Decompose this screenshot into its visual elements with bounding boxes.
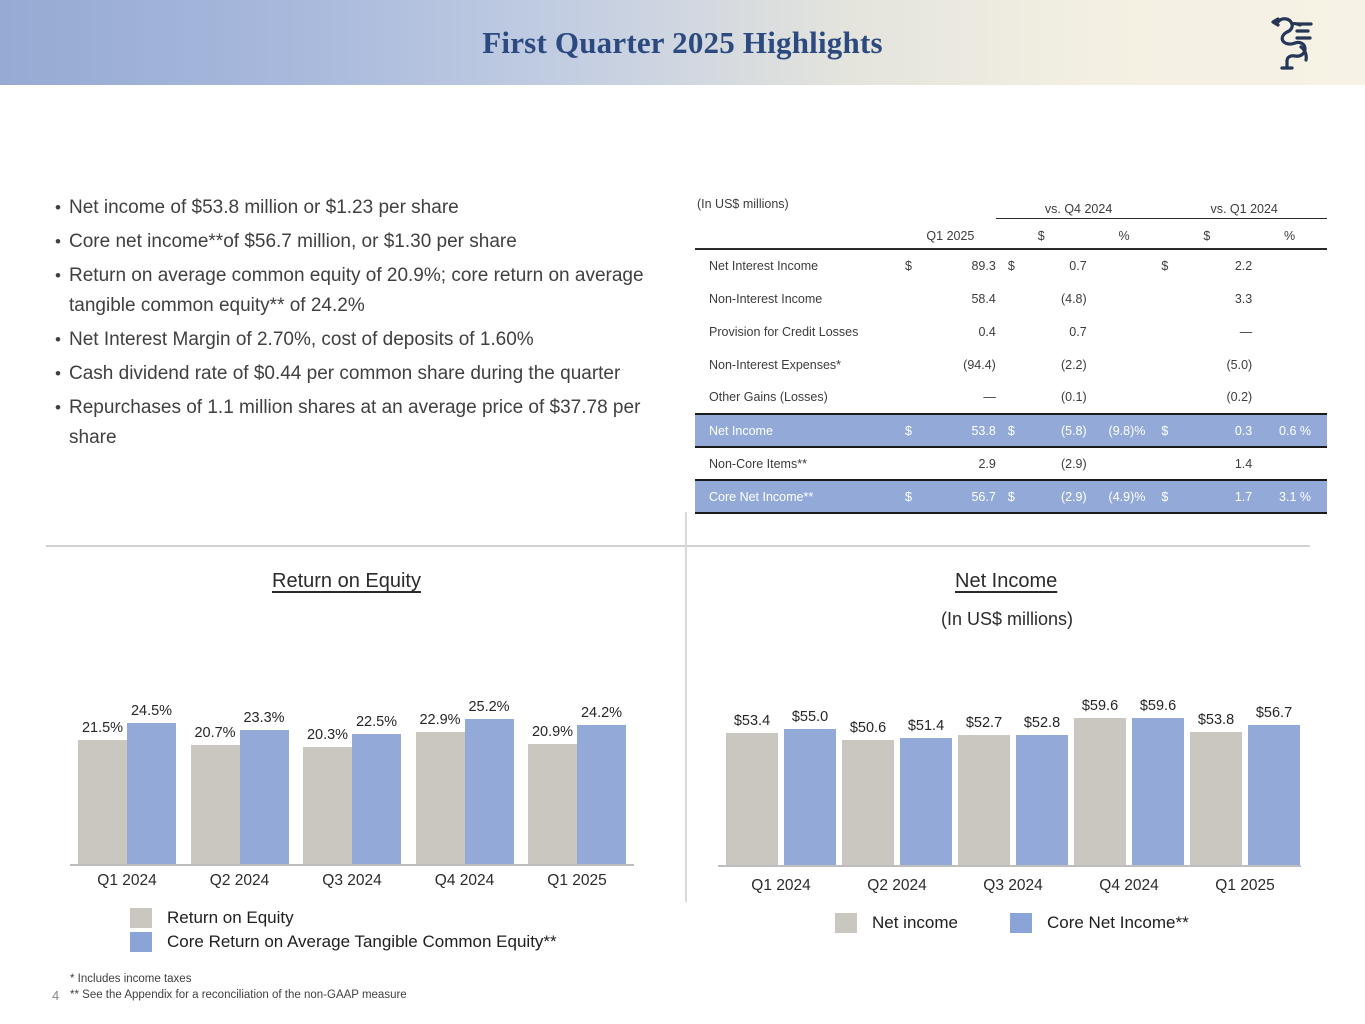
column-group-vs-q1: vs. Q1 2024 [1161,192,1327,218]
cell-vs-q4-currency [996,282,1030,315]
cell-vs-q4-value: (2.9) [1030,480,1087,513]
row-label: Non-Core Items** [695,447,905,480]
cell-vs-q1-value: 0.3 [1196,414,1253,447]
bar: 24.2% [577,725,626,864]
cell-q1-currency [905,282,939,315]
cell-vs-q1-currency [1161,447,1195,480]
legend-item: Return on Equity [130,908,557,928]
cell-vs-q4-percent [1087,348,1162,381]
cell-vs-q1-currency [1161,381,1195,414]
cell-vs-q4-value: (2.9) [1030,447,1087,480]
table-span-header-row: vs. Q4 2024 vs. Q1 2024 [695,192,1327,218]
col-header-q1-2025: Q1 2025 [905,218,996,248]
cell-vs-q4-percent: (4.9)% [1087,480,1162,513]
bar-value-label: $53.4 [734,713,770,729]
table-row: Non-Interest Expenses* (94.4) (2.2) (5.0… [695,348,1327,381]
cell-q1-currency: $ [905,480,939,513]
cell-vs-q1-percent [1252,381,1327,414]
cell-vs-q1-percent [1252,249,1327,282]
cell-q1-value: 0.4 [939,315,996,348]
slide: First Quarter 2025 Highlights • Net inco… [0,0,1365,1024]
footnote-double-asterisk: ** See the Appendix for a reconciliation… [70,987,407,1003]
horizontal-divider [46,545,1310,547]
bar: 25.2% [465,719,514,864]
cell-vs-q4-currency: $ [996,414,1030,447]
col-header-q1-dollar: $ [1161,218,1252,248]
table-row: Net Interest Income $ 89.3 $ 0.7 $ 2.2 [695,249,1327,282]
cell-vs-q4-value: (4.8) [1030,282,1087,315]
row-label: Non-Interest Income [695,282,905,315]
liver-bird-logo [1264,12,1320,72]
bar-group: 21.5%24.5% [78,723,176,864]
cell-vs-q1-percent [1252,348,1327,381]
bar-value-label: $55.0 [792,709,828,725]
bar: $53.8 [1190,732,1242,865]
cell-vs-q4-currency: $ [996,249,1030,282]
x-axis-tick-label: Q1 2024 [718,877,844,895]
legend-item: Core Net Income** [1010,913,1189,933]
legend-label: Return on Equity [167,908,294,928]
chart-net-income: $53.4$55.0Q1 2024$50.6$51.4Q2 2024$52.7$… [718,640,1308,895]
table-row: Non-Interest Income 58.4 (4.8) 3.3 [695,282,1327,315]
list-item: • Net income of $53.8 million or $1.23 p… [47,193,662,223]
row-label: Other Gains (Losses) [695,381,905,414]
bar: 20.3% [303,747,352,864]
bar-value-label: $56.7 [1256,705,1292,721]
bar-value-label: $53.8 [1198,712,1234,728]
bar-value-label: 22.9% [419,712,460,728]
cell-q1-value: 2.9 [939,447,996,480]
legend-swatch-blue-icon [130,932,152,952]
legend-swatch-gray-icon [130,908,152,928]
bullet-marker-icon: • [47,393,69,423]
cell-vs-q1-value: 2.2 [1196,249,1253,282]
cell-vs-q1-currency: $ [1161,414,1195,447]
cell-q1-value: 89.3 [939,249,996,282]
bar-value-label: 25.2% [468,699,509,715]
cell-vs-q1-currency: $ [1161,480,1195,513]
cell-vs-q4-currency: $ [996,480,1030,513]
legend-label: Core Net Income** [1047,913,1189,933]
cell-vs-q1-currency [1161,282,1195,315]
cell-q1-value: 58.4 [939,282,996,315]
cell-q1-currency [905,381,939,414]
cell-q1-value: (94.4) [939,348,996,381]
chart-x-axis [718,865,1301,867]
bar: $50.6 [842,740,894,865]
row-label: Non-Interest Expenses* [695,348,905,381]
cell-vs-q4-currency [996,381,1030,414]
cell-vs-q1-value: (5.0) [1196,348,1253,381]
row-label: Net Interest Income [695,249,905,282]
cell-vs-q4-currency [996,315,1030,348]
cell-q1-currency [905,348,939,381]
cell-q1-value: 56.7 [939,480,996,513]
bar-value-label: 24.2% [581,705,622,721]
column-group-vs-q4: vs. Q4 2024 [996,192,1162,218]
legend-label: Core Return on Average Tangible Common E… [167,932,557,952]
list-item-text: Net Interest Margin of 2.70%, cost of de… [69,325,662,355]
cell-vs-q1-percent: 0.6 % [1252,414,1327,447]
bar-value-label: 22.5% [356,714,397,730]
list-item-text: Repurchases of 1.1 million shares at an … [69,393,662,453]
bar-value-label: 20.9% [532,724,573,740]
x-axis-tick-label: Q4 2024 [1066,877,1192,895]
legend-return-on-equity: Return on Equity Core Return on Average … [130,908,557,956]
list-item: • Cash dividend rate of $0.44 per common… [47,359,662,389]
bar-group: $50.6$51.4 [842,738,952,865]
bar: 20.9% [528,744,577,864]
bar-group: 20.7%23.3% [191,730,289,864]
col-header-q4-dollar: $ [996,218,1087,248]
footnotes: * Includes income taxes ** See the Appen… [70,971,407,1003]
bar-value-label: $51.4 [908,718,944,734]
table-row: Other Gains (Losses) — (0.1) (0.2) [695,381,1327,414]
bar-group: $53.8$56.7 [1190,725,1300,865]
x-axis-tick-label: Q1 2024 [70,872,184,890]
cell-vs-q1-value: (0.2) [1196,381,1253,414]
financial-summary-table: vs. Q4 2024 vs. Q1 2024 Q1 2025 $ % $ % … [695,192,1327,514]
chart-x-axis [70,864,634,866]
cell-vs-q4-percent [1087,282,1162,315]
cell-vs-q4-percent [1087,381,1162,414]
cell-vs-q4-percent [1087,249,1162,282]
bar: 22.9% [416,732,465,864]
vertical-divider [685,512,687,902]
bar-value-label: 20.3% [307,727,348,743]
chart-subtitle-net-income: (In US$ millions) [941,609,1073,630]
row-label: Provision for Credit Losses [695,315,905,348]
cell-vs-q4-value: 0.7 [1030,249,1087,282]
list-item: • Net Interest Margin of 2.70%, cost of … [47,325,662,355]
table-row: Provision for Credit Losses 0.4 0.7 — [695,315,1327,348]
col-header-q1-percent: % [1252,218,1327,248]
table-row: Non-Core Items** 2.9 (2.9) 1.4 [695,447,1327,480]
bar-group: $53.4$55.0 [726,729,836,865]
legend-net-income: Net income Core Net Income** [835,913,1189,933]
bullet-marker-icon: • [47,227,69,257]
list-item: • Repurchases of 1.1 million shares at a… [47,393,662,453]
cell-vs-q4-value: (5.8) [1030,414,1087,447]
bar-group: 20.3%22.5% [303,734,401,864]
row-label: Core Net Income** [695,480,905,513]
bar: 24.5% [127,723,176,864]
bar: $51.4 [900,738,952,865]
cell-vs-q1-percent [1252,315,1327,348]
cell-q1-value: 53.8 [939,414,996,447]
cell-vs-q4-percent: (9.8)% [1087,414,1162,447]
x-axis-tick-label: Q3 2024 [950,877,1076,895]
bullet-marker-icon: • [47,359,69,389]
row-label: Net Income [695,414,905,447]
legend-swatch-gray-icon [835,913,857,933]
cell-vs-q1-currency [1161,315,1195,348]
bullet-marker-icon: • [47,261,69,291]
list-item-text: Core net income**of $56.7 million, or $1… [69,227,662,257]
bar-value-label: $52.8 [1024,715,1060,731]
bar-value-label: $50.6 [850,720,886,736]
bar: $59.6 [1132,718,1184,865]
chart-title-return-on-equity: Return on Equity [272,570,421,593]
x-axis-tick-label: Q2 2024 [183,872,297,890]
bar-group: 22.9%25.2% [416,719,514,864]
chart-return-on-equity: 21.5%24.5%Q1 202420.7%23.3%Q2 202420.3%2… [70,640,640,890]
cell-vs-q1-value: 3.3 [1196,282,1253,315]
cell-vs-q1-value: 1.7 [1196,480,1253,513]
col-header-q4-percent: % [1087,218,1162,248]
x-axis-tick-label: Q1 2025 [520,872,634,890]
x-axis-tick-label: Q2 2024 [834,877,960,895]
list-item-text: Cash dividend rate of $0.44 per common s… [69,359,662,389]
bar: 22.5% [352,734,401,864]
footnote-single-asterisk: * Includes income taxes [70,971,407,987]
bar-group: $52.7$52.8 [958,735,1068,865]
bar: $52.8 [1016,735,1068,865]
list-item-text: Net income of $53.8 million or $1.23 per… [69,193,662,223]
bar-value-label: 20.7% [194,725,235,741]
bar: 20.7% [191,745,240,864]
cell-q1-currency [905,447,939,480]
bar-value-label: $59.6 [1082,698,1118,714]
cell-vs-q1-percent [1252,447,1327,480]
bar-group: $59.6$59.6 [1074,718,1184,865]
list-item: • Core net income**of $56.7 million, or … [47,227,662,257]
page-title: First Quarter 2025 Highlights [0,0,1365,85]
bullet-marker-icon: • [47,193,69,223]
highlights-bullet-list: • Net income of $53.8 million or $1.23 p… [47,193,662,457]
legend-item: Core Return on Average Tangible Common E… [130,932,557,952]
cell-vs-q4-percent [1087,447,1162,480]
cell-vs-q4-currency [996,348,1030,381]
bar-value-label: 24.5% [131,703,172,719]
cell-vs-q1-value: 1.4 [1196,447,1253,480]
bullet-marker-icon: • [47,325,69,355]
cell-q1-currency: $ [905,414,939,447]
bar: $52.7 [958,735,1010,865]
legend-label: Net income [872,913,958,933]
legend-item: Net income [835,913,958,933]
chart-title-net-income: Net Income [955,570,1057,593]
bar: $53.4 [726,733,778,865]
list-item: • Return on average common equity of 20.… [47,261,662,321]
cell-vs-q1-value: — [1196,315,1253,348]
legend-swatch-blue-icon [1010,913,1032,933]
cell-q1-currency: $ [905,249,939,282]
bar: $55.0 [784,729,836,865]
cell-q1-currency [905,315,939,348]
x-axis-tick-label: Q4 2024 [408,872,522,890]
list-item-text: Return on average common equity of 20.9%… [69,261,662,321]
bar-value-label: $52.7 [966,715,1002,731]
table-row-core-net-income-highlight: Core Net Income** $ 56.7 $ (2.9) (4.9)% … [695,480,1327,513]
cell-vs-q1-currency: $ [1161,249,1195,282]
bar-group: 20.9%24.2% [528,725,626,864]
cell-q1-value: — [939,381,996,414]
table-row-net-income-highlight: Net Income $ 53.8 $ (5.8) (9.8)% $ 0.3 0… [695,414,1327,447]
bar-value-label: 23.3% [243,710,284,726]
bar: 21.5% [78,740,127,864]
cell-vs-q4-value: 0.7 [1030,315,1087,348]
x-axis-tick-label: Q3 2024 [295,872,409,890]
page-number: 4 [52,988,59,1003]
bar: 23.3% [240,730,289,864]
x-axis-tick-label: Q1 2025 [1182,877,1308,895]
cell-vs-q1-percent [1252,282,1327,315]
bar-value-label: $59.6 [1140,698,1176,714]
cell-vs-q4-percent [1087,315,1162,348]
cell-vs-q1-percent: 3.1 % [1252,480,1327,513]
bar-value-label: 21.5% [82,720,123,736]
cell-vs-q1-currency [1161,348,1195,381]
cell-vs-q4-value: (2.2) [1030,348,1087,381]
bar: $59.6 [1074,718,1126,865]
cell-vs-q4-value: (0.1) [1030,381,1087,414]
bar: $56.7 [1248,725,1300,865]
cell-vs-q4-currency [996,447,1030,480]
slide-header-band: First Quarter 2025 Highlights [0,0,1365,85]
table-header-row: Q1 2025 $ % $ % [695,218,1327,248]
